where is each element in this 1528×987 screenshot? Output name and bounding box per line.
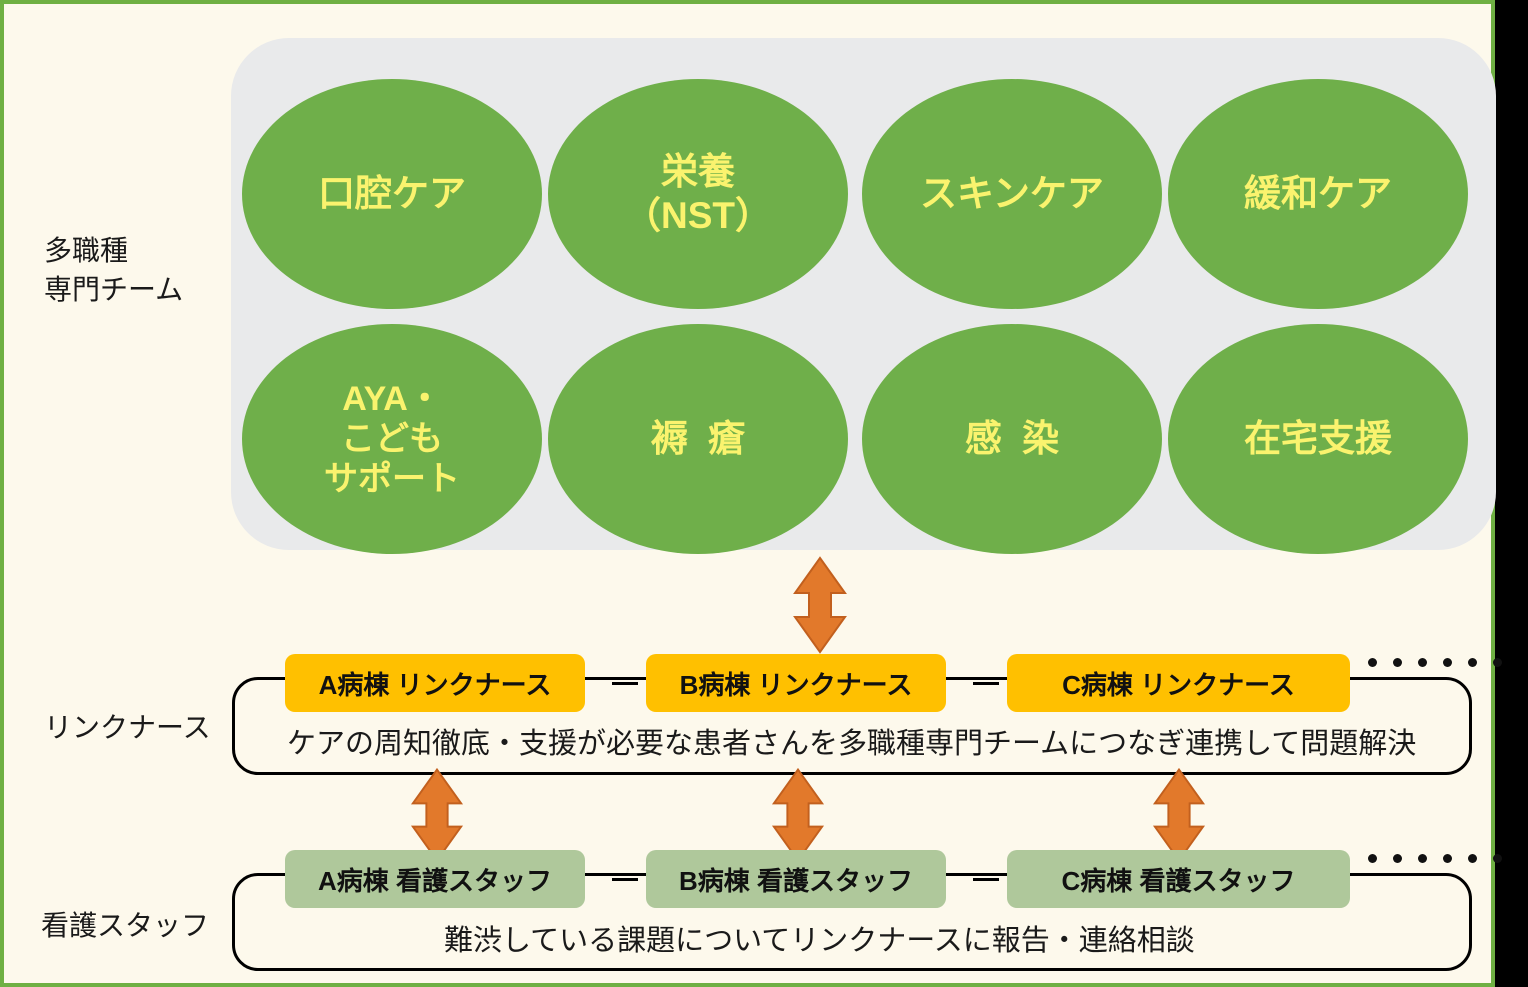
connector-dash xyxy=(973,878,999,881)
link-nurse-row-caption: ケアの周知徹底・支援が必要な患者さんを多職種専門チームにつなぎ連携して問題解決 xyxy=(287,720,1416,762)
multidisciplinary-team-panel: 口腔ケア 栄養 （NST） スキンケア 緩和ケア AYA・ こども サポート 褥… xyxy=(231,38,1496,550)
chip-link-nurse-ward-c[interactable]: C病棟 リンクナース xyxy=(1007,654,1350,712)
chip-link-nurse-ward-a[interactable]: A病棟 リンクナース xyxy=(285,654,585,712)
category-label-nursing-staff: 看護スタッフ xyxy=(41,908,209,947)
chip-nursing-staff-ward-a[interactable]: A病棟 看護スタッフ xyxy=(285,850,585,908)
connector-dash xyxy=(973,682,999,685)
team-ellipse-pressure-ulcer[interactable]: 褥瘡 xyxy=(548,324,848,554)
chip-nursing-staff-ward-c[interactable]: C病棟 看護スタッフ xyxy=(1007,850,1350,908)
chip-link-nurse-ward-b[interactable]: B病棟 リンクナース xyxy=(646,654,946,712)
connector-dash xyxy=(612,878,638,881)
category-label-link-nurse: リンクナース xyxy=(44,710,211,749)
team-ellipse-aya-child-support[interactable]: AYA・ こども サポート xyxy=(242,324,542,554)
connector-dash xyxy=(612,682,638,685)
team-ellipse-skin-care[interactable]: スキンケア xyxy=(862,79,1162,309)
diagram-canvas: 多職種 専門チーム リンクナース 看護スタッフ 口腔ケア 栄養 （NST） スキ… xyxy=(0,0,1495,987)
team-ellipse-home-care-support[interactable]: 在宅支援 xyxy=(1168,324,1468,554)
arrow-team-to-link-nurse xyxy=(790,555,850,655)
team-ellipse-infection[interactable]: 感染 xyxy=(862,324,1162,554)
chip-nursing-staff-ward-b[interactable]: B病棟 看護スタッフ xyxy=(646,850,946,908)
team-ellipse-palliative-care[interactable]: 緩和ケア xyxy=(1168,79,1468,309)
category-label-multidisciplinary-team: 多職種 専門チーム xyxy=(44,233,183,310)
nursing-staff-row-caption: 難渋している課題についてリンクナースに報告・連絡相談 xyxy=(444,917,1195,959)
nursing-staff-continuation-dots xyxy=(1368,854,1502,863)
team-ellipse-nutrition-nst[interactable]: 栄養 （NST） xyxy=(548,79,848,309)
team-ellipse-oral-care[interactable]: 口腔ケア xyxy=(242,79,542,309)
link-nurse-continuation-dots xyxy=(1368,658,1502,667)
